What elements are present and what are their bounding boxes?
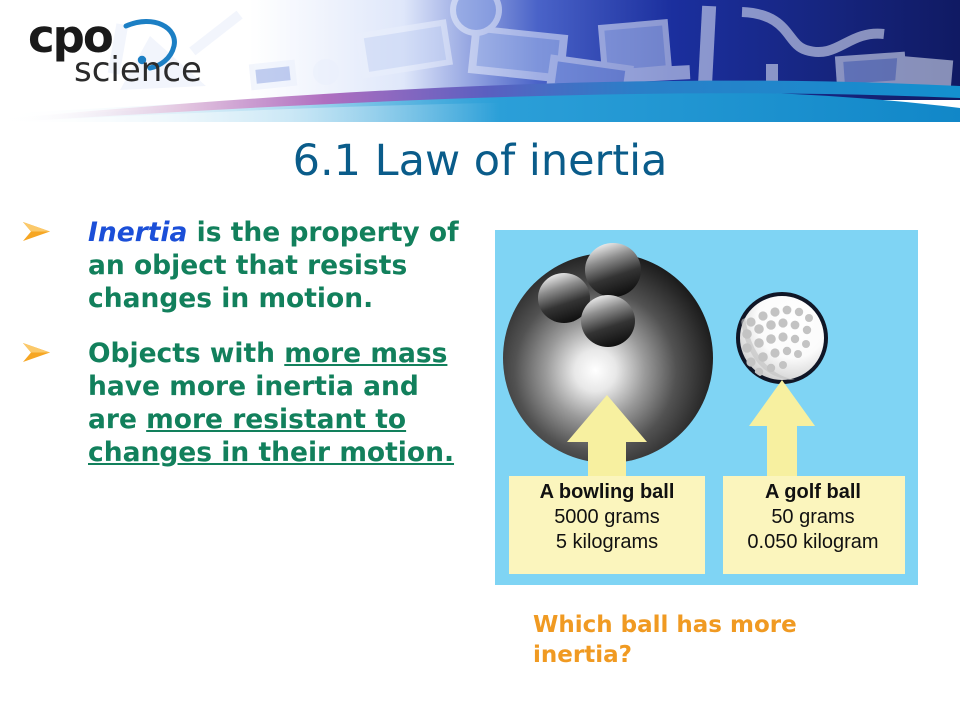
bowling-label-kilograms: 5 kilograms	[517, 530, 697, 555]
list-item: Inertia is the property of an object tha…	[14, 216, 474, 315]
bowling-ball-label: A bowling ball 5000 grams 5 kilograms	[517, 480, 697, 555]
bowling-label-grams: 5000 grams	[517, 505, 697, 530]
header-banner: cpo science	[0, 0, 960, 122]
golf-ball-label: A golf ball 50 grams 0.050 kilogram	[728, 480, 898, 555]
list-item: Objects with more mass have more inertia…	[14, 337, 474, 469]
bullet-emphasis: Inertia	[88, 217, 187, 248]
chevron-bullet-icon	[20, 339, 54, 367]
golf-label-grams: 50 grams	[728, 505, 898, 530]
bullet-text: Objects with	[88, 338, 284, 369]
figure-panel: A bowling ball 5000 grams 5 kilograms A …	[495, 230, 918, 585]
chevron-bullet-icon	[20, 218, 54, 246]
golf-label-title: A golf ball	[728, 480, 898, 505]
logo-sub-text: science	[74, 52, 202, 88]
golf-label-kilograms: 0.050 kilogram	[728, 530, 898, 555]
golf-ball-icon	[738, 294, 826, 382]
bowling-label-title: A bowling ball	[517, 480, 697, 505]
page-title: 6.1 Law of inertia	[0, 136, 960, 186]
bullet-underline-1: more mass	[284, 338, 447, 369]
bullet-list: Inertia is the property of an object tha…	[14, 216, 474, 491]
figure-caption: Which ball has more inertia?	[533, 610, 863, 670]
cpo-science-logo: cpo science	[28, 14, 228, 90]
